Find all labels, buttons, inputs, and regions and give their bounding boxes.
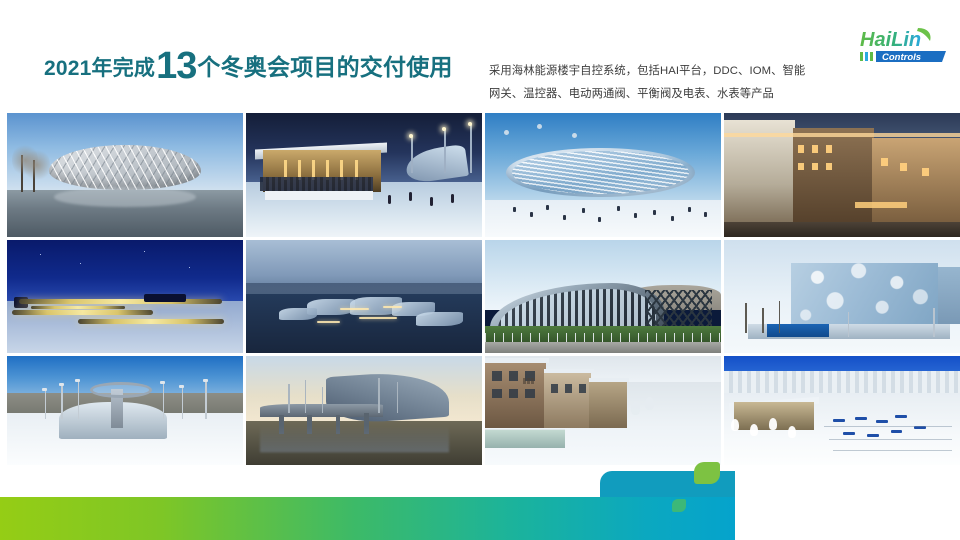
gallery-item-big-air-shougang-reflection[interactable] — [246, 356, 482, 465]
slide-header: 2021年完成13个冬奥会项目的交付使用 采用海林能源楼宇自控系统，包括HAI平… — [0, 0, 960, 113]
hailin-logo-mark: HaiLin Controls — [858, 26, 950, 66]
footer-gradient-bar — [0, 497, 735, 540]
title-suffix: 个冬奥会项目的交付使用 — [197, 54, 452, 80]
slide-root: 2021年完成13个冬奥会项目的交付使用 采用海林能源楼宇自控系统，包括HAI平… — [0, 0, 960, 540]
gallery-item-olympic-village-aerial[interactable] — [246, 240, 482, 353]
gallery-item-ski-slope-venue[interactable] — [724, 356, 960, 465]
leaf-accent-small-icon — [672, 499, 686, 512]
description-line-2: 网关、温控器、电动两通阀、平衡阀及电表、水表等产品 — [489, 83, 849, 106]
hailin-logo: HaiLin Controls — [858, 26, 950, 66]
page-title: 2021年完成13个冬奥会项目的交付使用 — [44, 47, 453, 85]
gallery-item-national-stadium-birds-nest[interactable] — [7, 113, 243, 237]
logo-brand-text: HaiLin — [860, 29, 921, 51]
description-text: 采用海林能源楼宇自控系统，包括HAI平台，DDC、IOM、智能 网关、温控器、电… — [489, 60, 849, 106]
gallery-item-big-air-shougang-snow[interactable] — [7, 356, 243, 465]
gallery-item-national-speed-skating-oval[interactable] — [485, 113, 721, 237]
logo-tagline-text: Controls — [882, 52, 921, 63]
title-number: 13 — [155, 45, 197, 87]
logo-bar-3 — [870, 52, 873, 61]
gallery-item-mountain-resort-hotel[interactable] — [724, 113, 960, 237]
description-line-1: 采用海林能源楼宇自控系统，包括HAI平台，DDC、IOM、智能 — [489, 60, 849, 83]
gallery-item-snow-village-accommodation[interactable] — [485, 356, 721, 465]
leaf-accent-large-icon — [694, 462, 720, 484]
gallery-item-night-illuminated-venue[interactable] — [7, 240, 243, 353]
title-prefix: 2021年完成 — [44, 57, 155, 80]
gallery-item-water-cube-ice-cube[interactable] — [724, 240, 960, 353]
slide-footer — [0, 458, 960, 540]
project-gallery-grid — [7, 113, 953, 459]
logo-bar-2 — [865, 52, 868, 61]
logo-bar-1 — [860, 52, 863, 61]
gallery-item-curved-roof-arena[interactable] — [485, 240, 721, 353]
gallery-item-cross-country-skiing-centre[interactable] — [246, 113, 482, 237]
